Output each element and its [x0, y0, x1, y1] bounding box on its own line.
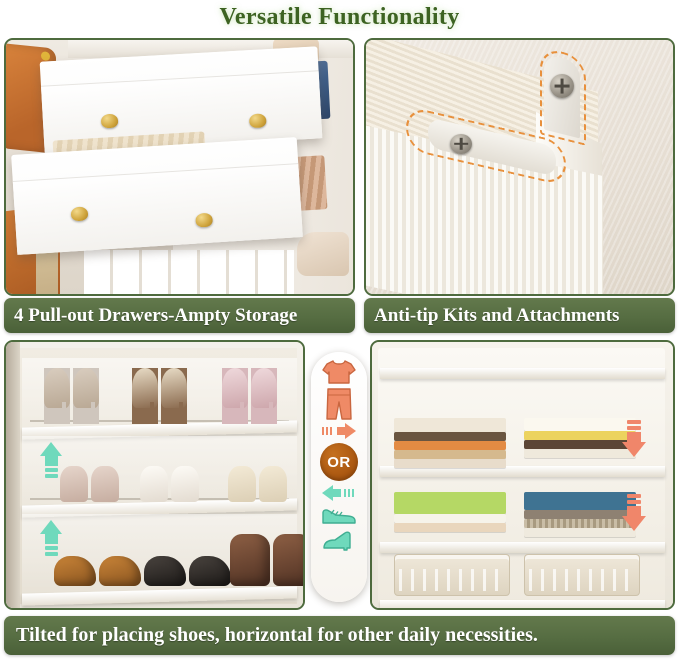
tilt-up-arrow-icon	[40, 442, 62, 478]
tilt-up-arrow-icon	[40, 520, 62, 556]
sneaker-icon	[320, 503, 358, 527]
shoe-pair	[44, 368, 99, 424]
folded-item	[524, 519, 636, 528]
shoe-pair	[132, 368, 187, 424]
folded-item	[524, 528, 636, 537]
caption-drawers-text: 4 Pull-out Drawers-Ampty Storage	[14, 305, 297, 327]
caption-bottom-text: Tilted for placing shoes, horizontal for…	[16, 624, 538, 647]
folded-item	[394, 450, 506, 459]
folded-item	[394, 418, 506, 432]
pants-icon	[323, 387, 355, 421]
woven-basket	[394, 554, 510, 596]
white-bow-heel	[171, 466, 199, 502]
shoe-shelf-middle	[22, 436, 297, 514]
folded-shelf-content	[372, 342, 673, 608]
folded-item	[524, 431, 636, 440]
shelf-line	[380, 542, 665, 553]
brown-strap-sandal	[132, 368, 158, 424]
folded-item	[394, 459, 506, 468]
white-bow-heel	[140, 466, 168, 502]
highlight-dashed-outline-vertical	[540, 46, 586, 145]
brown-strap-sandal	[161, 368, 187, 424]
folded-item	[524, 449, 636, 458]
shoe-pair	[230, 534, 303, 586]
antitip-photo-content	[366, 40, 673, 294]
folded-item	[524, 492, 636, 510]
high-heel-icon	[321, 528, 357, 556]
folded-stack	[394, 418, 506, 468]
page-title-bar: Versatile Functionality	[0, 0, 679, 34]
shoe-shelf-top	[22, 358, 297, 436]
folded-item	[524, 418, 636, 431]
horizontal-down-arrow-icon	[622, 494, 646, 531]
folded-stack	[394, 492, 506, 532]
folded-item	[394, 523, 506, 532]
or-mode-badge[interactable]: OR	[311, 352, 367, 602]
black-oxford	[144, 556, 186, 586]
black-oxford	[189, 556, 231, 586]
page-title: Versatile Functionality	[220, 4, 460, 31]
silver-tan-pump	[73, 368, 99, 424]
shelf-line	[380, 600, 665, 608]
beige-mule	[60, 466, 88, 502]
arrow-right-icon	[322, 423, 356, 439]
shelf-line	[380, 368, 665, 379]
shoe-rack-side-panel	[6, 342, 20, 608]
folded-stack	[524, 418, 636, 458]
tshirt-icon	[321, 358, 357, 386]
brown-ankle-boot	[230, 534, 270, 586]
woven-basket	[524, 554, 640, 596]
beige-mule	[91, 466, 119, 502]
arrow-left-icon	[322, 485, 356, 501]
folded-item	[524, 510, 636, 519]
shoe-pair	[228, 466, 287, 502]
brown-oxford	[54, 556, 96, 586]
shoe-pair	[222, 368, 277, 424]
shoe-shelf-bottom	[22, 514, 297, 602]
caption-antitip-text: Anti-tip Kits and Attachments	[374, 305, 619, 327]
shoe-pair	[140, 466, 199, 502]
drawers-photo-content	[6, 40, 353, 294]
folded-item	[394, 432, 506, 441]
caption-bottom: Tilted for placing shoes, horizontal for…	[4, 616, 675, 655]
shoe-pair	[144, 556, 231, 586]
folded-item	[524, 440, 636, 449]
folded-item	[394, 514, 506, 523]
folded-stack	[524, 492, 636, 537]
folded-item	[394, 441, 506, 450]
caption-antitip: Anti-tip Kits and Attachments	[364, 298, 675, 333]
anti-tip-kit-photo[interactable]	[364, 38, 675, 296]
cream-shoe	[297, 232, 349, 276]
silver-tan-pump	[44, 368, 70, 424]
pink-pointed-heel	[251, 368, 277, 424]
pull-out-drawers-photo[interactable]	[4, 38, 355, 296]
brown-oxford	[99, 556, 141, 586]
horizontal-down-arrow-icon	[622, 420, 646, 457]
shoe-pair	[54, 556, 141, 586]
shoe-rack-content	[6, 342, 303, 608]
drawer-lower[interactable]	[11, 137, 303, 255]
or-circle: OR	[320, 443, 358, 481]
pink-pointed-heel	[222, 368, 248, 424]
shoe-divider-cells	[84, 250, 294, 294]
cream-sandal	[259, 466, 287, 502]
caption-drawers: 4 Pull-out Drawers-Ampty Storage	[4, 298, 355, 333]
tilted-shoe-rack-photo[interactable]	[4, 340, 305, 610]
horizontal-shelf-photo[interactable]	[370, 340, 675, 610]
brown-ankle-boot	[273, 534, 303, 586]
folded-item	[394, 492, 506, 514]
cream-sandal	[228, 466, 256, 502]
shoe-pair	[60, 466, 119, 502]
